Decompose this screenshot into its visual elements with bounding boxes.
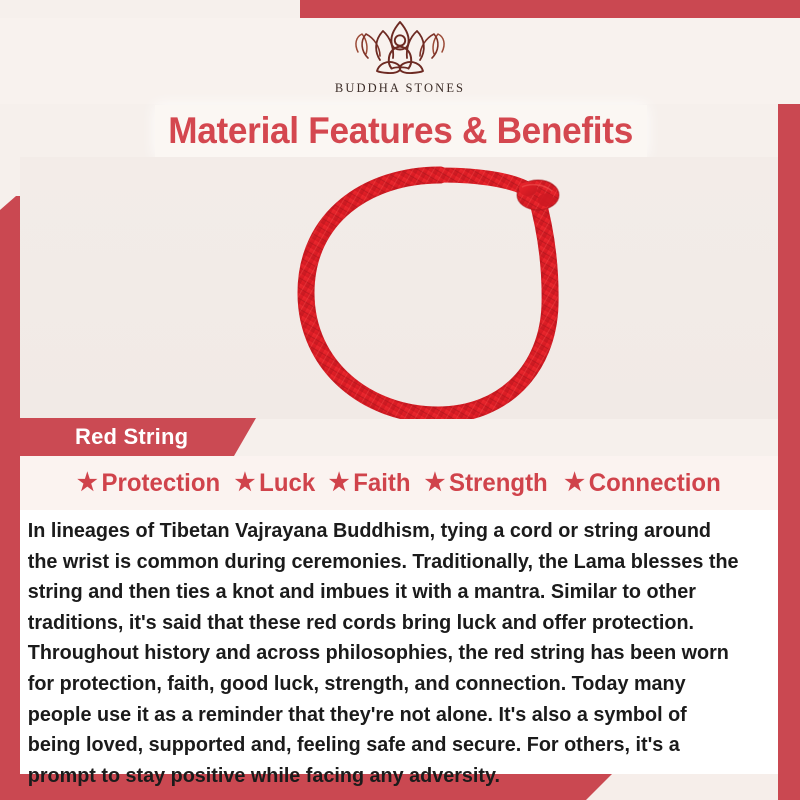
lotus-meditation-icon xyxy=(344,18,456,80)
feature-faith: ★ Faith xyxy=(329,469,411,498)
material-ribbon: Red String xyxy=(20,418,256,456)
feature-label: Protection xyxy=(102,469,221,498)
feature-strength: ★ Strength xyxy=(425,469,548,498)
decor-left-red-bar xyxy=(0,196,20,800)
feature-protection: ★ Protection xyxy=(77,469,220,498)
feature-luck: ★ Luck xyxy=(235,469,316,498)
feature-label: Connection xyxy=(589,469,721,498)
description-text: In lineages of Tibetan Vajrayana Buddhis… xyxy=(20,516,755,791)
star-icon: ★ xyxy=(564,471,585,495)
brand-name: BUDDHA STONES xyxy=(335,81,465,96)
brand-header: BUDDHA STONES xyxy=(0,18,800,104)
star-icon: ★ xyxy=(235,471,256,495)
feature-label: Faith xyxy=(353,469,410,498)
features-row: ★ Protection ★ Luck ★ Faith ★ Strength ★… xyxy=(20,456,778,510)
page-title: Material Features & Benefits xyxy=(169,110,634,152)
material-name: Red String xyxy=(75,424,188,450)
star-icon: ★ xyxy=(77,471,98,495)
feature-connection: ★ Connection xyxy=(564,469,720,498)
description-panel: In lineages of Tibetan Vajrayana Buddhis… xyxy=(20,510,778,774)
infographic-poster: BUDDHA STONES Material Features & Benefi… xyxy=(0,0,800,800)
title-banner: Material Features & Benefits xyxy=(155,105,647,157)
decor-right-red-bar xyxy=(778,0,800,800)
product-photo xyxy=(20,157,778,419)
star-icon: ★ xyxy=(329,471,350,495)
feature-label: Luck xyxy=(260,469,316,498)
red-braided-bracelet-image xyxy=(272,157,602,419)
star-icon: ★ xyxy=(425,471,446,495)
decor-top-red-bar xyxy=(300,0,800,18)
feature-label: Strength xyxy=(450,469,549,498)
